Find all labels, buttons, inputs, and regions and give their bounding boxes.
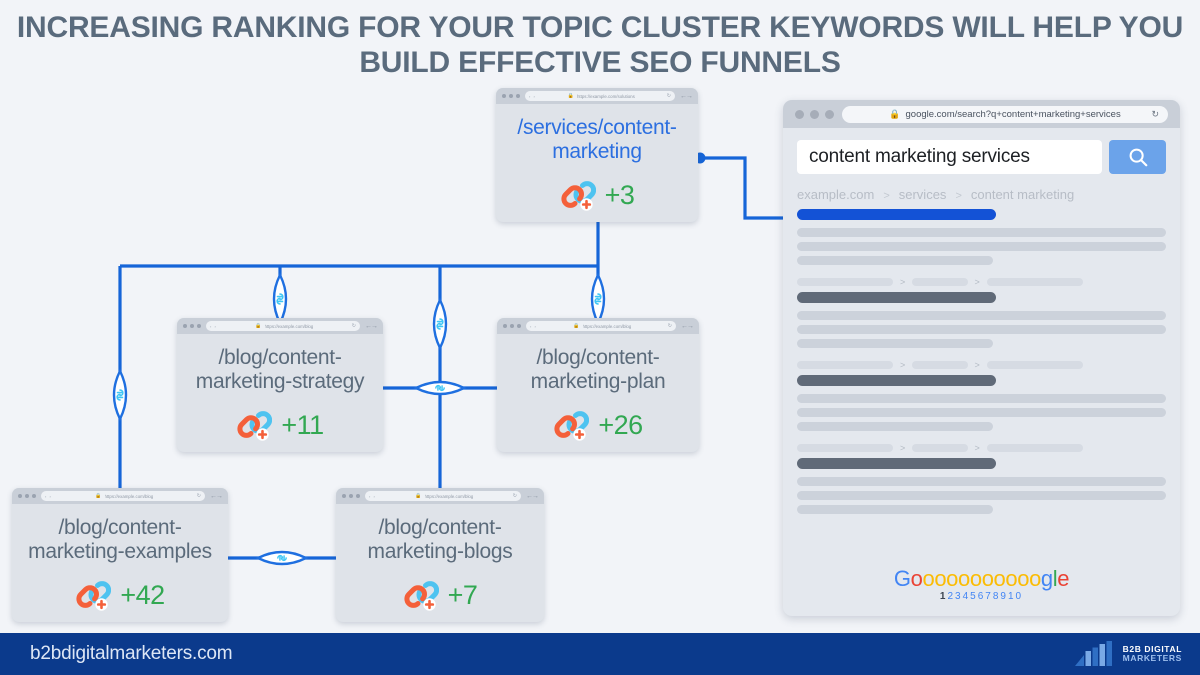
window-dots-icon (342, 494, 360, 498)
page-link-10[interactable]: 10 (1008, 591, 1023, 602)
card-url: /blog/content-marketing-plan (531, 346, 666, 395)
page-link-9[interactable]: 9 (1000, 591, 1008, 602)
reload-icon[interactable]: ↻ (513, 493, 517, 499)
page-card-blog-content-marketing-examples[interactable]: ‹ › 🔒 https://example.com/blog ↻ ←→ /blo… (12, 488, 228, 622)
link-node-strategy-plan (416, 382, 464, 394)
browser-chrome: ‹ › 🔒 https://example.com/solutions ↻ ←→ (496, 88, 698, 104)
page-link-2[interactable]: 2 (947, 591, 955, 602)
lock-icon: 🔒 (95, 493, 101, 499)
card-body: /services/content-marketing +3 (496, 104, 698, 222)
footer-site-url: b2bdigitalmarketers.com (30, 643, 232, 665)
window-dots-icon (795, 110, 834, 119)
link-node-plan (592, 275, 604, 323)
address-bar[interactable]: ‹ › 🔒 https://example.com/blog ↻ (206, 321, 360, 331)
breadcrumb-page: content marketing (971, 187, 1074, 202)
address-text: https://example.com/solutions (577, 94, 635, 99)
serp-result-row[interactable]: > > (797, 360, 1166, 431)
result-snippet (797, 311, 1166, 348)
reload-icon[interactable]: ↻ (1151, 109, 1159, 120)
backlink-metric: +26 (553, 409, 642, 442)
nav-arrows-icon[interactable]: ←→ (681, 323, 693, 330)
result-title-placeholder[interactable] (797, 209, 996, 220)
breadcrumb-section: services (899, 187, 947, 202)
address-bar[interactable]: ‹ › 🔒 https://example.com/solutions ↻ (525, 91, 675, 101)
search-button[interactable] (1109, 140, 1166, 174)
result-title-placeholder[interactable] (797, 292, 996, 303)
address-bar[interactable]: ‹ › 🔒 https://example.com/blog ↻ (365, 491, 521, 501)
backlink-metric: +3 (560, 179, 635, 212)
reload-icon[interactable]: ↻ (352, 323, 356, 329)
backlink-count: +42 (120, 580, 164, 611)
address-bar[interactable]: ‹ › 🔒 https://example.com/blog ↻ (526, 321, 676, 331)
card-body: /blog/content-marketing-plan +26 (497, 334, 699, 452)
window-dots-icon (18, 494, 36, 498)
card-url: /services/content-marketing (517, 116, 676, 165)
google-serp-window[interactable]: 🔒 google.com/search?q+content+marketing+… (783, 100, 1180, 616)
page-link-3[interactable]: 3 (955, 591, 963, 602)
backlink-metric: +7 (403, 579, 478, 612)
card-body: /blog/content-marketing-strategy +11 (177, 334, 383, 452)
nav-hint: ‹ › (210, 324, 217, 329)
result-title-placeholder[interactable] (797, 458, 996, 469)
brand-logo: B2B DIGITAL MARKETERS (1073, 641, 1182, 667)
card-url: /blog/content-marketing-blogs (368, 516, 513, 565)
pagination-numbers[interactable]: 12345678910 (783, 591, 1180, 602)
window-dots-icon (183, 324, 201, 328)
page-card-blog-content-marketing-strategy[interactable]: ‹ › 🔒 https://example.com/blog ↻ ←→ /blo… (177, 318, 383, 452)
page-card-blog-content-marketing-plan[interactable]: ‹ › 🔒 https://example.com/blog ↻ ←→ /blo… (497, 318, 699, 452)
card-url: /blog/content-marketing-strategy (196, 346, 365, 395)
link-node-strategy (274, 275, 286, 323)
brand-line-2: MARKETERS (1123, 653, 1182, 663)
backlink-count: +26 (598, 410, 642, 441)
link-plus-icon (560, 179, 596, 212)
link-node-examples-blogs (258, 552, 306, 564)
browser-chrome: ‹ › 🔒 https://example.com/blog ↻ ←→ (177, 318, 383, 334)
serp-result-row[interactable]: > > (797, 277, 1166, 348)
browser-chrome: ‹ › 🔒 https://example.com/blog ↻ ←→ (12, 488, 228, 504)
backlink-count: +7 (448, 580, 478, 611)
card-body: /blog/content-marketing-blogs +7 (336, 504, 544, 622)
breadcrumb-domain: example.com (797, 187, 874, 202)
search-icon (1127, 146, 1149, 168)
browser-chrome: ‹ › 🔒 https://example.com/blog ↻ ←→ (497, 318, 699, 334)
search-input[interactable]: content marketing services (797, 140, 1102, 174)
page-card-services-content-marketing[interactable]: ‹ › 🔒 https://example.com/solutions ↻ ←→… (496, 88, 698, 222)
reload-icon[interactable]: ↻ (668, 323, 672, 329)
backlink-metric: +11 (236, 409, 323, 442)
lock-icon: 🔒 (415, 493, 421, 499)
footer-bar: b2bdigitalmarketers.com B2B DIGITAL MARK… (0, 633, 1200, 675)
serp-address-bar[interactable]: 🔒 google.com/search?q+content+marketing+… (842, 106, 1168, 123)
nav-hint: ‹ › (529, 94, 536, 99)
page-card-blog-content-marketing-blogs[interactable]: ‹ › 🔒 https://example.com/blog ↻ ←→ /blo… (336, 488, 544, 622)
address-text: https://example.com/blog (105, 494, 154, 499)
lock-icon: 🔒 (889, 109, 900, 120)
link-plus-icon (553, 409, 589, 442)
page-link-7[interactable]: 7 (985, 591, 993, 602)
link-plus-icon (236, 409, 272, 442)
bar-chart-logo-icon (1073, 641, 1115, 667)
nav-arrows-icon[interactable]: ←→ (210, 493, 222, 500)
breadcrumb-separator-icon: > (955, 190, 961, 202)
card-url: /blog/content-marketing-examples (28, 516, 212, 565)
link-plus-icon (75, 579, 111, 612)
result-snippet (797, 394, 1166, 431)
window-dots-icon (502, 94, 520, 98)
reload-icon[interactable]: ↻ (197, 493, 201, 499)
serp-address-text: google.com/search?q+content+marketing+se… (906, 109, 1121, 120)
link-node-center (434, 300, 446, 348)
result-breadcrumb-placeholder: > > (797, 443, 1166, 453)
reload-icon[interactable]: ↻ (667, 93, 671, 99)
lock-icon: 🔒 (568, 93, 574, 99)
nav-arrows-icon[interactable]: ←→ (526, 493, 538, 500)
serp-pagination: Gooooooooooogle 12345678910 (783, 568, 1180, 602)
card-body: /blog/content-marketing-examples +42 (12, 504, 228, 622)
result-snippet (797, 477, 1166, 514)
result-snippet (797, 228, 1166, 265)
backlink-count: +3 (605, 180, 635, 211)
browser-chrome: ‹ › 🔒 https://example.com/blog ↻ ←→ (336, 488, 544, 504)
link-plus-icon (403, 579, 439, 612)
google-pagination-logo: Gooooooooooogle (783, 568, 1180, 590)
nav-hint: ‹ › (45, 494, 52, 499)
serp-result-row[interactable] (797, 209, 1166, 265)
brand-text: B2B DIGITAL MARKETERS (1123, 645, 1182, 663)
lock-icon: 🔒 (573, 323, 579, 329)
serp-body: content marketing services example.com >… (783, 128, 1180, 616)
wire-hero-to-serp (698, 158, 783, 218)
lock-icon: 🔒 (255, 323, 261, 329)
window-dots-icon (503, 324, 521, 328)
address-text: https://example.com/blog (265, 324, 314, 329)
link-node-left (114, 371, 126, 419)
backlink-metric: +42 (75, 579, 164, 612)
breadcrumb-separator-icon: > (883, 190, 889, 202)
serp-search-row: content marketing services (797, 140, 1166, 174)
nav-hint: ‹ › (369, 494, 376, 499)
result-title-placeholder[interactable] (797, 375, 996, 386)
serp-browser-chrome: 🔒 google.com/search?q+content+marketing+… (783, 100, 1180, 128)
result-breadcrumb-placeholder: > > (797, 277, 1166, 287)
result-breadcrumb-placeholder: > > (797, 360, 1166, 370)
breadcrumb: example.com > services > content marketi… (797, 187, 1166, 202)
backlink-count: +11 (281, 410, 323, 441)
address-text: https://example.com/blog (583, 324, 632, 329)
address-bar[interactable]: ‹ › 🔒 https://example.com/blog ↻ (41, 491, 205, 501)
nav-arrows-icon[interactable]: ←→ (365, 323, 377, 330)
address-text: https://example.com/blog (425, 494, 474, 499)
nav-arrows-icon[interactable]: ←→ (680, 93, 692, 100)
serp-result-row[interactable]: > > (797, 443, 1166, 514)
page-link-5[interactable]: 5 (970, 591, 978, 602)
nav-hint: ‹ › (530, 324, 537, 329)
